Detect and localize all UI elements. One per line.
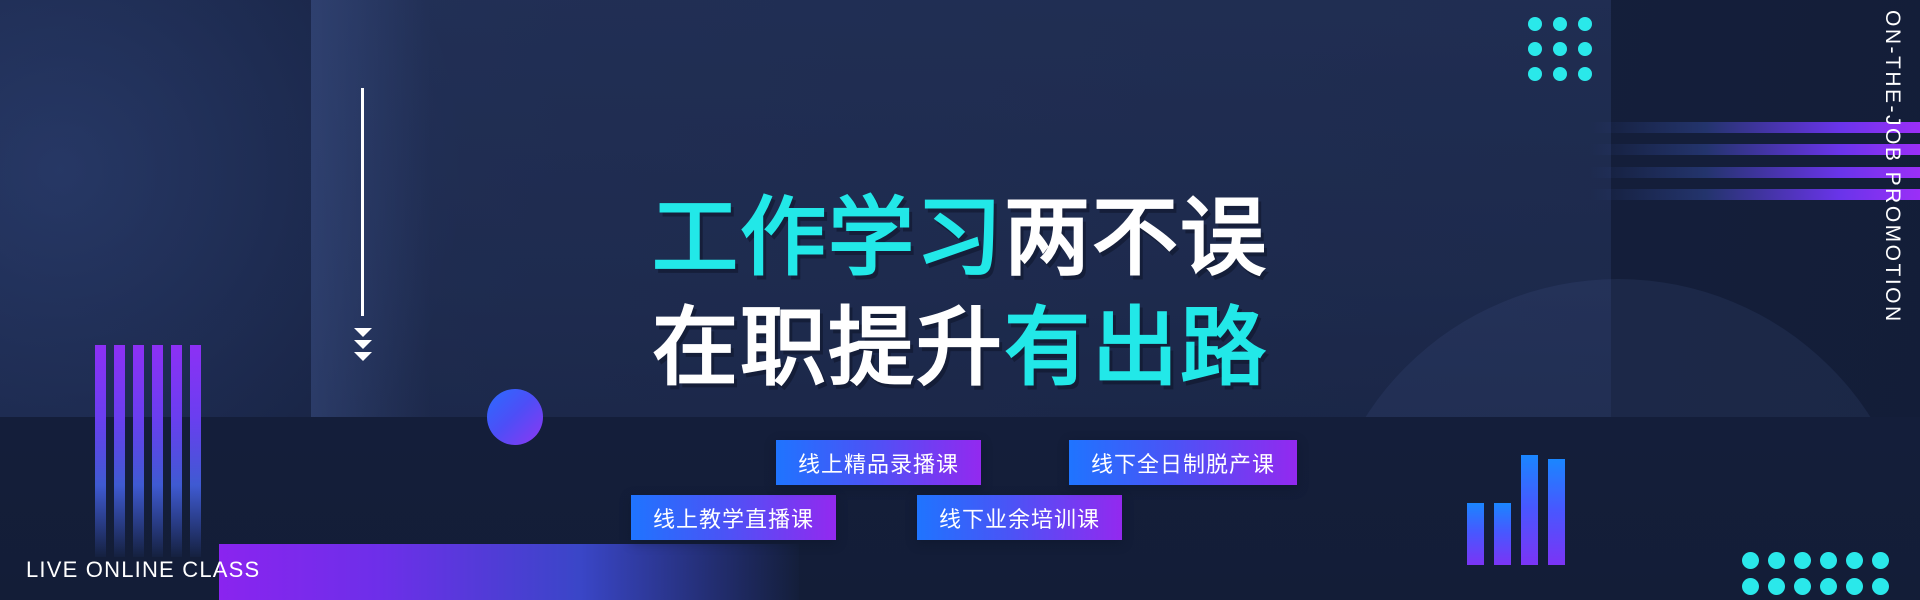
course-tag-list: 线上教学直播课 线上精品录播课 线下业余培训课 线下全日制脱产课 bbox=[0, 440, 1920, 560]
course-tag[interactable]: 线下业余培训课 bbox=[917, 495, 1122, 540]
chevron-down-icon bbox=[351, 328, 374, 361]
course-tag[interactable]: 线下全日制脱产课 bbox=[1069, 440, 1297, 485]
course-tag-label: 线上精品录播课 bbox=[798, 447, 959, 479]
vertical-rule bbox=[361, 88, 364, 316]
corner-tagline: LIVE ONLINE CLASS bbox=[26, 557, 260, 583]
gradient-circle-accent bbox=[487, 389, 543, 445]
dot-grid-icon bbox=[1528, 17, 1592, 81]
promotional-banner: 工作学习两不误 在职提升有出路 线上教学直播课 线上精品录播课 线下业余培训课 … bbox=[0, 0, 1920, 600]
course-tag[interactable]: 线上精品录播课 bbox=[776, 440, 981, 485]
inner-panel bbox=[311, 0, 1611, 417]
vertical-tagline: ON-THE-JOB PROMOTION bbox=[1870, 0, 1914, 260]
course-tag-label: 线上教学直播课 bbox=[653, 502, 814, 534]
vertical-tagline-text: ON-THE-JOB PROMOTION bbox=[1880, 10, 1904, 324]
course-tag[interactable]: 线上教学直播课 bbox=[631, 495, 836, 540]
course-tag-label: 线下全日制脱产课 bbox=[1091, 447, 1275, 479]
course-tag-label: 线下业余培训课 bbox=[939, 502, 1100, 534]
